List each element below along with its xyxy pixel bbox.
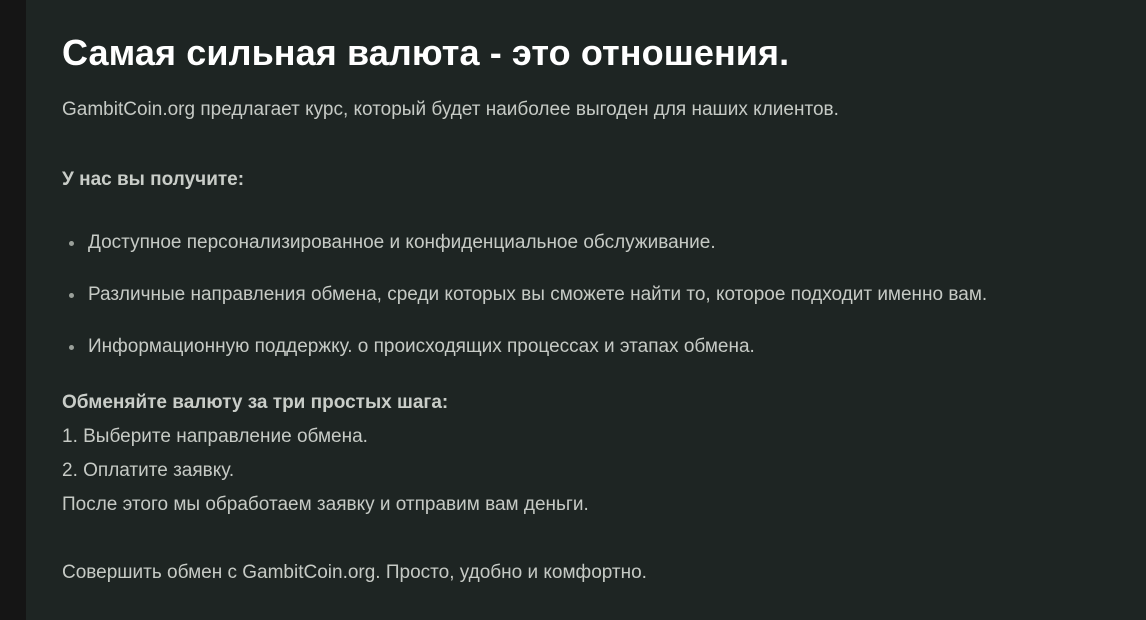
steps-outro: После этого мы обработаем заявку и отпра…	[62, 488, 1146, 522]
page-root: Самая сильная валюта - это отношения. Ga…	[0, 0, 1146, 620]
steps-block: Обменяйте валюту за три простых шага: 1.…	[62, 360, 1146, 522]
list-item: Доступное персонализированное и конфиден…	[62, 230, 1146, 256]
list-item: Различные направления обмена, среди кото…	[62, 282, 1146, 308]
benefits-heading: У нас вы получите:	[62, 123, 1146, 193]
bullet-icon	[69, 293, 74, 298]
benefits-list: Доступное персонализированное и конфиден…	[62, 193, 1146, 360]
article-content: Самая сильная валюта - это отношения. Ga…	[26, 0, 1146, 620]
step-item: 2. Оплатите заявку.	[62, 454, 1146, 488]
bullet-icon	[69, 345, 74, 350]
list-item-label: Информационную поддержку. о происходящих…	[88, 336, 755, 357]
list-item-label: Различные направления обмена, среди кото…	[88, 284, 987, 305]
left-gutter-strip	[0, 0, 26, 620]
intro-paragraph: GambitCoin.org предлагает курс, который …	[62, 75, 1146, 123]
page-title: Самая сильная валюта - это отношения.	[62, 0, 1146, 75]
steps-heading: Обменяйте валюту за три простых шага:	[62, 386, 1146, 420]
list-item-label: Доступное персонализированное и конфиден…	[88, 232, 716, 253]
list-item: Информационную поддержку. о происходящих…	[62, 334, 1146, 360]
steps-list: 1. Выберите направление обмена. 2. Оплат…	[62, 420, 1146, 488]
bullet-icon	[69, 241, 74, 246]
step-item: 1. Выберите направление обмена.	[62, 420, 1146, 454]
closing-paragraph: Совершить обмен с GambitCoin.org. Просто…	[62, 522, 1146, 586]
